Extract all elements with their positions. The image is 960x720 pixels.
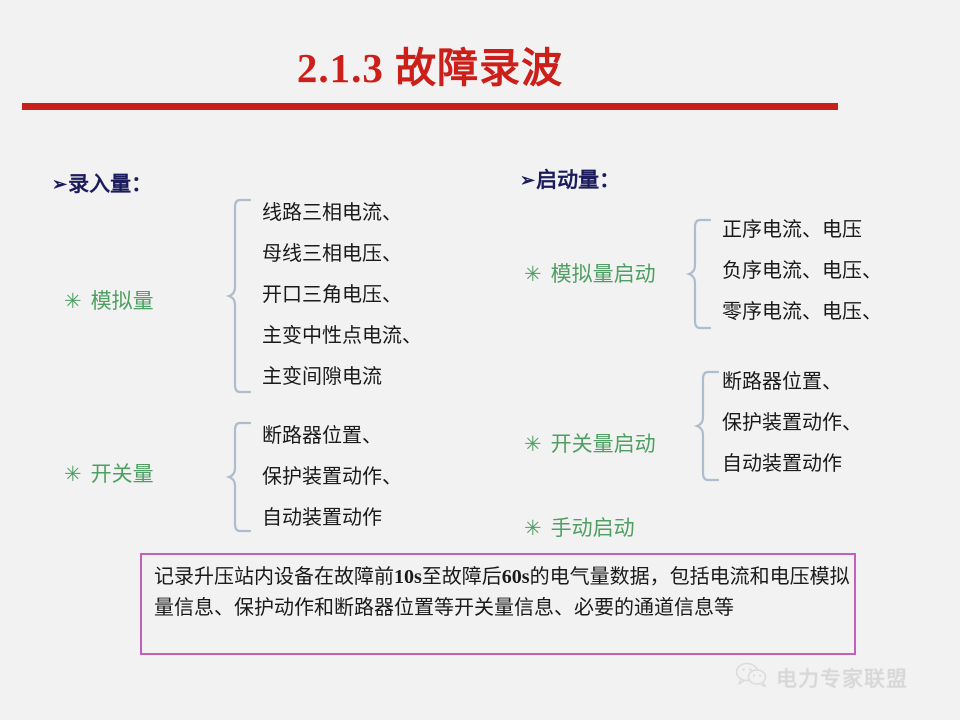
wechat-icon	[735, 662, 769, 693]
slide-canvas: 2.1.3 故障录波 ➢录入量： ✳模拟量 线路三相电流、 母线三相电压、 开口…	[0, 0, 960, 720]
note-duration-before: 10s	[394, 566, 422, 588]
left-column-header-label: 录入量：	[68, 172, 152, 196]
title-text: 故障录波	[395, 45, 563, 91]
category-switch-quantity-label: 开关量	[91, 462, 154, 486]
list-item: 主变中性点电流、	[262, 316, 422, 357]
title-divider	[22, 103, 838, 110]
list-item: 保护装置动作、	[262, 457, 402, 498]
title-number: 2.1.3	[297, 45, 384, 91]
list-analog-quantity: 线路三相电流、 母线三相电压、 开口三角电压、 主变中性点电流、 主变间隙电流	[262, 193, 422, 398]
asterisk-icon: ✳	[524, 432, 542, 456]
note-text: 记录升压站内设备在故障前10s至故障后60s的电气量数据，包括电流和电压模拟量信…	[154, 562, 854, 624]
category-manual-start-label: 手动启动	[551, 516, 635, 540]
category-switch-quantity: ✳开关量	[64, 458, 154, 488]
asterisk-icon: ✳	[64, 289, 82, 313]
list-item: 主变间隙电流	[262, 357, 422, 398]
list-item: 断路器位置、	[722, 362, 862, 403]
watermark-label: 电力专家联盟	[776, 663, 908, 693]
brace-switch-start	[694, 370, 720, 482]
list-item: 线路三相电流、	[262, 193, 422, 234]
right-column-header-label: 启动量：	[536, 168, 620, 192]
page-title: 2.1.3 故障录波	[0, 34, 860, 94]
chevron-right-icon: ➢	[52, 174, 67, 195]
category-manual-start: ✳手动启动	[524, 512, 635, 542]
list-item: 开口三角电压、	[262, 275, 422, 316]
list-analog-start: 正序电流、电压 负序电流、电压、 零序电流、电压、	[722, 210, 882, 333]
note-line3: 必要的通道信息等	[574, 597, 734, 619]
category-analog-start-label: 模拟量启动	[551, 262, 656, 286]
asterisk-icon: ✳	[524, 516, 542, 540]
list-item: 保护装置动作、	[722, 403, 862, 444]
list-item: 自动装置动作	[722, 444, 862, 485]
brace-analog-start	[686, 218, 712, 330]
asterisk-icon: ✳	[524, 262, 542, 286]
note-duration-after: 60s	[502, 566, 530, 588]
note-line1-post: 的电气量数据，包括	[530, 566, 710, 588]
list-switch-quantity: 断路器位置、 保护装置动作、 自动装置动作	[262, 416, 402, 539]
right-column-header: ➢启动量：	[520, 164, 620, 194]
category-analog-start: ✳模拟量启动	[524, 258, 656, 288]
list-item: 零序电流、电压、	[722, 292, 882, 333]
list-item: 自动装置动作	[262, 498, 402, 539]
note-line1-mid: 至故障后	[422, 566, 502, 588]
list-item: 负序电流、电压、	[722, 251, 882, 292]
list-item: 母线三相电压、	[262, 234, 422, 275]
category-switch-start-label: 开关量启动	[551, 432, 656, 456]
chevron-right-icon: ➢	[520, 170, 535, 191]
list-item: 正序电流、电压	[722, 210, 882, 251]
note-line1-pre: 记录升压站内设备在故障前	[154, 566, 394, 588]
brace-switch-quantity	[226, 421, 252, 533]
list-item: 断路器位置、	[262, 416, 402, 457]
category-switch-start: ✳开关量启动	[524, 428, 656, 458]
brace-analog-quantity	[226, 198, 252, 394]
category-analog-quantity-label: 模拟量	[91, 289, 154, 313]
asterisk-icon: ✳	[64, 462, 82, 486]
left-column-header: ➢录入量：	[52, 168, 152, 198]
list-switch-start: 断路器位置、 保护装置动作、 自动装置动作	[722, 362, 862, 485]
category-analog-quantity: ✳模拟量	[64, 285, 154, 315]
watermark: 电力专家联盟	[735, 662, 908, 693]
